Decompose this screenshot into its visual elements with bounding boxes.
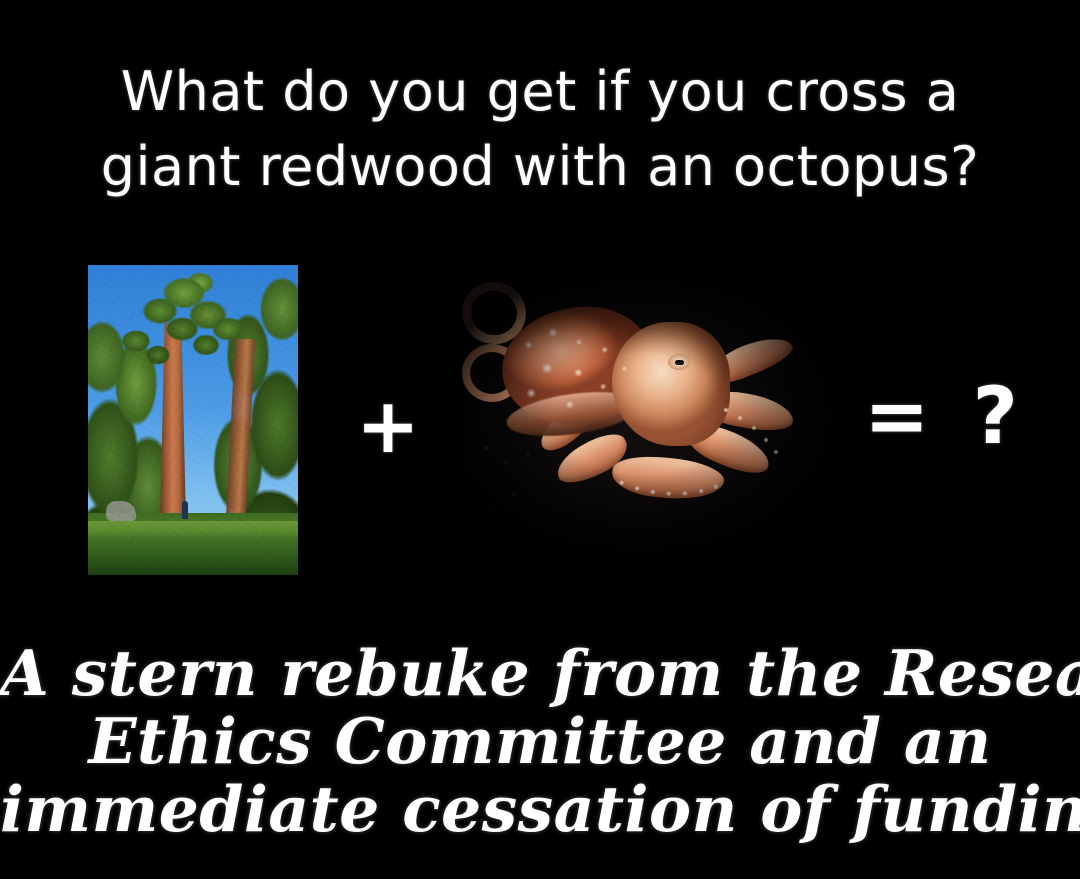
octopus-photo <box>462 282 833 558</box>
plus-operator: + <box>355 388 421 464</box>
equals-question-operator: = ? <box>860 378 1030 456</box>
punchline-line-3: immediate cessation of funding <box>0 776 1080 842</box>
question-line-1: What do you get if you cross a <box>0 55 1080 129</box>
redwood-tree-photo <box>88 265 298 575</box>
photo-grain-overlay <box>88 265 298 575</box>
meme-image: What do you get if you cross a giant red… <box>0 0 1080 879</box>
punchline-line-1: A stern rebuke from the Research <box>0 640 1080 706</box>
photo-vignette-overlay <box>462 282 833 558</box>
punchline-line-2: Ethics Committee and an <box>0 708 1080 774</box>
question-line-2: giant redwood with an octopus? <box>0 130 1080 204</box>
